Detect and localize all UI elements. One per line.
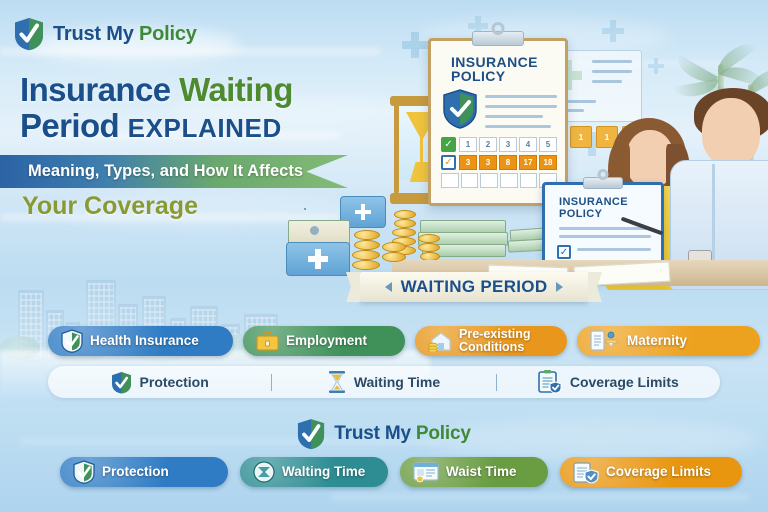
pill-label: Walting Time: [282, 465, 365, 479]
brand-logo-footer[interactable]: Trust My Policy: [0, 418, 768, 450]
footer-pill-row: Protection Walting Time Waist Time Cover…: [0, 457, 768, 487]
shield-check-icon: [443, 89, 477, 129]
subtitle-ribbon: Meaning, Types, and How It Affects: [0, 155, 348, 188]
brand-name: Trust My Policy: [334, 423, 470, 445]
person-man: [678, 88, 768, 288]
feature-coverage-limits[interactable]: Coverage Limits: [497, 370, 720, 394]
footer-pill-coverage-limits[interactable]: Coverage Limits: [560, 457, 742, 487]
calendar-cell: 3: [479, 155, 497, 170]
pill-label: Waist Time: [446, 465, 517, 479]
baby-document-icon: [590, 329, 620, 353]
feature-bar: Protection Waiting Time Coverage Limits: [48, 366, 720, 398]
arrow-left-icon: [385, 282, 392, 292]
id-card-icon: [413, 461, 439, 483]
shield-check-icon: [14, 17, 44, 51]
shield-check-icon: [61, 329, 83, 353]
calendar-row-1: 1 2 3 4 5: [459, 137, 557, 152]
brand-name-green: Policy: [416, 423, 471, 444]
clipboard-shield-icon: [538, 370, 562, 394]
waiting-period-banner: WAITING PERIOD: [360, 272, 588, 302]
pill-pre-existing-conditions[interactable]: Pre-existing Conditions: [415, 326, 567, 356]
feature-protection[interactable]: Protection: [48, 371, 271, 394]
brand-name-blue: Trust My: [53, 23, 134, 45]
calendar-cell: 8: [499, 155, 517, 170]
pill-label: Health Insurance: [90, 334, 199, 348]
calendar-cell: 3: [459, 155, 477, 170]
document-title-line1: INSURANCE: [559, 197, 628, 209]
footer-pill-protection[interactable]: Protection: [60, 457, 228, 487]
infographic-poster: 1 1 1 1 INSURANCE POLICY: [0, 0, 768, 512]
briefcase-icon: [256, 331, 279, 352]
brand-logo-header[interactable]: Trust My Policy: [14, 17, 197, 51]
calendar-cell: 2: [479, 137, 497, 152]
insurance-scene-illustration: 1 1 1 1 INSURANCE POLICY: [392, 14, 768, 286]
calendar-row-2: 3 3 8 17 18: [459, 155, 557, 170]
document-title-line2: POLICY: [559, 209, 602, 221]
calendar-cell: 1: [459, 137, 477, 152]
hourglass-circle-icon: [253, 461, 275, 483]
title-word-explained: EXPLAINED: [128, 113, 282, 143]
shield-check-icon: [73, 460, 95, 484]
waiting-period-label: WAITING PERIOD: [401, 277, 548, 297]
calendar-cell: 4: [519, 137, 537, 152]
page-title: Insurance Waiting Period EXPLAINED: [20, 72, 380, 143]
arrow-right-icon: [556, 282, 563, 292]
feature-label: Coverage Limits: [570, 374, 679, 390]
calendar-check-green: ✓: [441, 137, 456, 152]
feature-waiting-time[interactable]: Waiting Time: [272, 370, 495, 394]
footer-pill-waist-time[interactable]: Waist Time: [400, 457, 548, 487]
pill-health-insurance[interactable]: Health Insurance: [48, 326, 233, 356]
calendar-check-orange: ✓: [441, 155, 456, 170]
calendar-row-3: [441, 173, 557, 188]
pill-label: Pre-existing Conditions: [459, 328, 554, 354]
calendar-cell: 17: [519, 155, 537, 170]
brand-name: Trust My Policy: [53, 23, 197, 46]
brand-name-green: Policy: [139, 23, 197, 45]
subtitle-ribbon-text: Meaning, Types, and How It Affects: [28, 162, 303, 181]
insurance-cards-money-group: [286, 196, 406, 282]
footer-pill-walting-time[interactable]: Walting Time: [240, 457, 388, 487]
clipboard-title-line2: POLICY: [451, 69, 506, 84]
pill-label: Maternity: [627, 334, 687, 348]
pill-label: Employment: [286, 334, 367, 348]
shield-check-icon: [297, 418, 325, 450]
calendar-cell: 5: [539, 137, 557, 152]
insurance-policy-clipboard: INSURANCE POLICY ✓ 1 2 3 4 5: [428, 38, 568, 206]
pill-maternity[interactable]: Maternity: [577, 326, 760, 356]
shield-check-icon: [111, 371, 132, 394]
pill-label: Coverage Limits: [606, 465, 711, 479]
calendar-cell: 18: [539, 155, 557, 170]
subtitle-second-line: Your Coverage: [22, 192, 198, 221]
feature-label: Protection: [140, 374, 209, 390]
pill-label: Protection: [102, 465, 169, 479]
title-word-waiting: Waiting: [179, 71, 293, 108]
title-word-period: Period: [20, 107, 119, 144]
calendar-cell: 3: [499, 137, 517, 152]
title-word-insurance: Insurance: [20, 71, 171, 108]
insurance-card: [286, 242, 350, 276]
house-coins-icon: [428, 330, 452, 352]
pill-employment[interactable]: Employment: [243, 326, 405, 356]
feature-label: Waiting Time: [354, 374, 440, 390]
brand-name-blue: Trust My: [334, 423, 411, 444]
category-pill-row: Health Insurance Employment Pre-existing…: [0, 326, 768, 356]
hourglass-icon: [328, 370, 346, 394]
clipboard-shield-icon: [573, 461, 599, 484]
